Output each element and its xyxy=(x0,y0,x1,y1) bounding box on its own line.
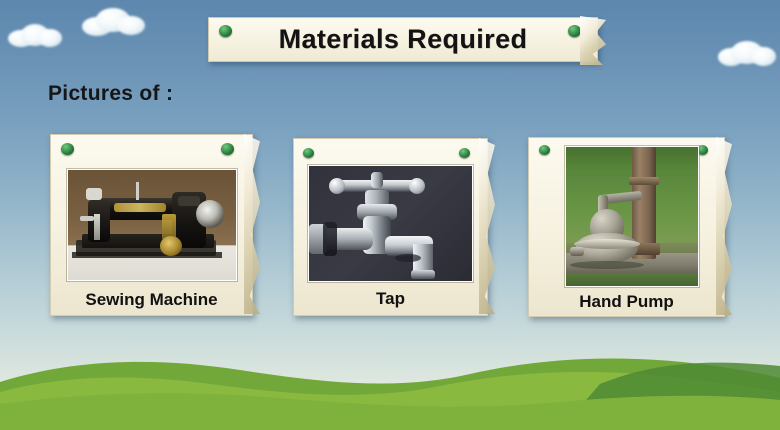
card-caption-tap: Tap xyxy=(294,289,487,309)
pushpin-icon-banner-right xyxy=(568,25,581,37)
green-hills-background xyxy=(0,340,780,430)
title-banner: Materials Required xyxy=(208,17,598,62)
pushpin-icon-card-sewing-left xyxy=(61,143,74,155)
pushpin-icon-card-pump-left xyxy=(539,145,550,155)
page-title: Materials Required xyxy=(279,24,528,55)
sewing-machine-photo xyxy=(67,169,237,281)
tap-photo xyxy=(308,165,473,282)
pushpin-icon-card-sewing-right xyxy=(221,143,234,155)
hand-pump-photo xyxy=(565,146,699,287)
slide-canvas: Materials Required Pictures of : xyxy=(0,0,780,430)
card-hand-pump[interactable]: Hand Pump xyxy=(528,137,725,317)
pushpin-icon-card-tap-left xyxy=(303,148,314,158)
subtitle-label: Pictures of : xyxy=(48,82,173,106)
pushpin-icon-card-tap-right xyxy=(459,148,470,158)
card-caption-hand-pump: Hand Pump xyxy=(529,292,724,312)
card-caption-sewing-machine: Sewing Machine xyxy=(51,290,252,310)
pushpin-icon-banner-left xyxy=(219,25,232,37)
card-sewing-machine[interactable]: Sewing Machine xyxy=(50,134,253,316)
card-tap[interactable]: Tap xyxy=(293,138,488,316)
